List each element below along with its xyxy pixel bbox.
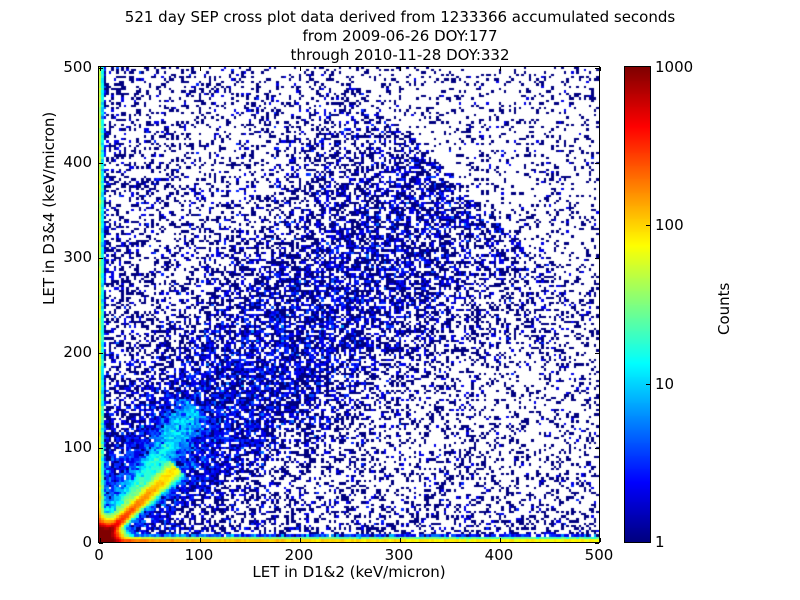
x-tick-label-500: 500 [585, 546, 614, 564]
colorbar-tick-label-1000: 1000 [655, 58, 693, 76]
x-tick-top-100 [200, 67, 201, 71]
x-tick-200 [300, 538, 301, 542]
y-tick-right-0 [595, 543, 599, 544]
x-tick-label-400: 400 [485, 546, 514, 564]
y-tick-right-400 [595, 163, 599, 164]
y-tick-0 [99, 543, 103, 544]
plot-title-line-2: from 2009-06-26 DOY:177 [0, 27, 800, 46]
x-tick-top-300 [400, 67, 401, 71]
y-tick-200 [99, 353, 103, 354]
colorbar-gradient [624, 66, 651, 543]
colorbar [624, 66, 649, 543]
y-tick-right-300 [595, 258, 599, 259]
colorbar-tick-100 [646, 225, 650, 226]
colorbar-tick-label-10: 10 [655, 375, 674, 393]
y-tick-label-100: 100 [44, 438, 92, 456]
y-axis-label: LET in D3&4 (keV/micron) [40, 112, 58, 305]
x-tick-300 [400, 538, 401, 542]
x-tick-label-100: 100 [185, 546, 214, 564]
x-tick-label-200: 200 [285, 546, 314, 564]
colorbar-tick-10 [646, 384, 650, 385]
x-tick-100 [200, 538, 201, 542]
plot-title: 521 day SEP cross plot data derived from… [0, 8, 800, 65]
plot-axes [98, 66, 600, 543]
y-tick-300 [99, 258, 103, 259]
colorbar-tick-label-1: 1 [655, 533, 665, 551]
x-axis-label: LET in D1&2 (keV/micron) [98, 563, 600, 581]
x-tick-top-200 [300, 67, 301, 71]
x-tick-500 [600, 538, 601, 542]
y-tick-right-200 [595, 353, 599, 354]
density-scatter-plot [99, 67, 599, 542]
figure-canvas: 521 day SEP cross plot data derived from… [0, 0, 800, 600]
colorbar-label: Counts [715, 283, 733, 335]
y-tick-100 [99, 448, 103, 449]
x-tick-top-400 [500, 67, 501, 71]
x-tick-0 [100, 538, 101, 542]
y-tick-label-200: 200 [44, 343, 92, 361]
y-tick-500 [99, 68, 103, 69]
y-tick-label-500: 500 [44, 58, 92, 76]
x-tick-top-500 [600, 67, 601, 71]
x-tick-label-300: 300 [385, 546, 414, 564]
x-tick-400 [500, 538, 501, 542]
plot-title-line-1: 521 day SEP cross plot data derived from… [0, 8, 800, 27]
y-tick-400 [99, 163, 103, 164]
y-tick-label-0: 0 [44, 533, 92, 551]
x-tick-label-0: 0 [94, 546, 104, 564]
y-tick-right-100 [595, 448, 599, 449]
colorbar-tick-label-100: 100 [655, 216, 684, 234]
y-tick-right-500 [595, 68, 599, 69]
